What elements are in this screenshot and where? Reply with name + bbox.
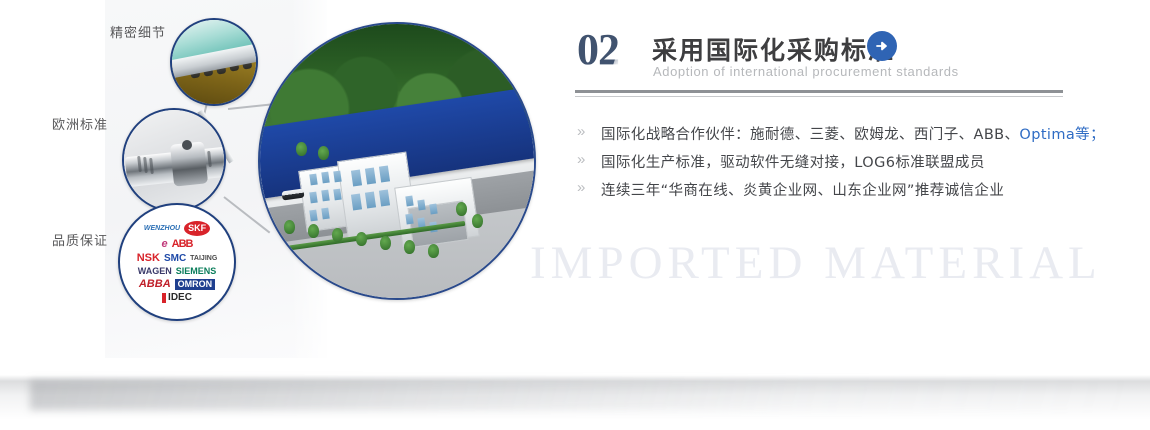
section-header: 02 采用国际化采购标准 Adoption of international p… bbox=[575, 26, 1095, 86]
window bbox=[429, 204, 437, 215]
tree bbox=[284, 220, 295, 234]
bullet-chevron-icon: » bbox=[577, 123, 585, 140]
gear-detail-photo bbox=[170, 18, 258, 106]
list-item-text: 连续三年“华商在线、炎黄企业网、山东企业网”推荐诚信企业 bbox=[601, 179, 1004, 200]
window bbox=[309, 192, 317, 204]
watermark-text: IMPORTED MATERIAL bbox=[530, 236, 1102, 290]
tree bbox=[318, 146, 329, 160]
list-item-text: 国际化战略合作伙伴：施耐德、三菱、欧姆龙、西门子、ABB、Optima等； bbox=[601, 123, 1105, 144]
page-title: 采用国际化采购标准 bbox=[652, 31, 895, 67]
list-item: » 国际化战略合作伙伴：施耐德、三菱、欧姆龙、西门子、ABB、Optima等； bbox=[575, 119, 1095, 147]
list-item: » 国际化生产标准，驱动软件无缝对接，LOG6标准联盟成员 bbox=[575, 147, 1095, 175]
collage-label-quality: 品质保证 bbox=[52, 230, 108, 249]
brand-logo-taijing: TAIJING bbox=[190, 255, 217, 262]
list-item: » 连续三年“华商在线、炎黄企业网、山东企业网”推荐诚信企业 bbox=[575, 175, 1095, 203]
bullet-chevron-icon: » bbox=[577, 179, 585, 196]
arrow-right-icon[interactable] bbox=[867, 31, 897, 61]
window bbox=[333, 171, 341, 183]
tree bbox=[380, 236, 391, 250]
content-column: 02 采用国际化采购标准 Adoption of international p… bbox=[575, 0, 1095, 430]
tree bbox=[296, 142, 307, 156]
brand-logo-idec: IDEC bbox=[162, 293, 192, 303]
tree bbox=[428, 244, 439, 258]
page-subtitle: Adoption of international procurement st… bbox=[653, 64, 959, 79]
window bbox=[405, 196, 413, 207]
brand-logo-wagen: WAGEN bbox=[138, 267, 172, 276]
collage-label-european-standard: 欧洲标准 bbox=[52, 114, 108, 133]
brand-logo-omron: OMRON bbox=[175, 279, 216, 290]
brand-logo-wenzhou: WENZHOU bbox=[144, 225, 180, 232]
tree bbox=[356, 232, 367, 246]
bullet-chevron-icon: » bbox=[577, 151, 585, 168]
window bbox=[309, 174, 317, 186]
feature-list: » 国际化战略合作伙伴：施耐德、三菱、欧姆龙、西门子、ABB、Optima等； … bbox=[575, 119, 1095, 203]
brand-logo-e: e bbox=[162, 239, 168, 250]
brand-logo-abb: ABB bbox=[172, 239, 193, 250]
screw-bore-hole bbox=[182, 140, 192, 150]
brand-logos-collage: WENZHOU SKF e ABB NSK SMC TAIJING WAGEN … bbox=[118, 203, 236, 321]
divider-thin bbox=[575, 96, 1063, 97]
divider-thick bbox=[575, 90, 1063, 93]
tree bbox=[472, 214, 483, 228]
logo-grid: WENZHOU SKF e ABB NSK SMC TAIJING WAGEN … bbox=[120, 205, 234, 319]
window bbox=[333, 189, 341, 201]
brand-logo-skf: SKF bbox=[184, 221, 210, 236]
window bbox=[321, 208, 329, 220]
promo-banner: 精密细节 欧洲标准 品质保证 WENZHOU SKF e bbox=[0, 0, 1150, 430]
window bbox=[417, 200, 425, 211]
tree bbox=[332, 228, 343, 242]
tree bbox=[404, 240, 415, 254]
list-item-text-main: 国际化战略合作伙伴：施耐德、三菱、欧姆龙、西门子、ABB、 bbox=[601, 127, 1019, 143]
brand-logo-nsk: NSK bbox=[137, 253, 160, 264]
collage-label-precision: 精密细节 bbox=[110, 22, 166, 41]
list-item-text-highlight: Optima等； bbox=[1019, 127, 1105, 143]
tree bbox=[308, 224, 319, 238]
factory-aerial-photo bbox=[258, 22, 536, 300]
tree bbox=[456, 202, 467, 216]
window bbox=[321, 190, 329, 202]
list-item-text: 国际化生产标准，驱动软件无缝对接，LOG6标准联盟成员 bbox=[601, 151, 985, 172]
window bbox=[321, 172, 329, 184]
window bbox=[405, 214, 413, 225]
brand-logo-siemens: SIEMENS bbox=[176, 267, 217, 276]
brand-logo-abba: ABBA bbox=[139, 279, 171, 290]
brand-logo-smc: SMC bbox=[164, 254, 186, 264]
ball-screw-photo bbox=[122, 108, 226, 212]
window bbox=[309, 210, 317, 222]
